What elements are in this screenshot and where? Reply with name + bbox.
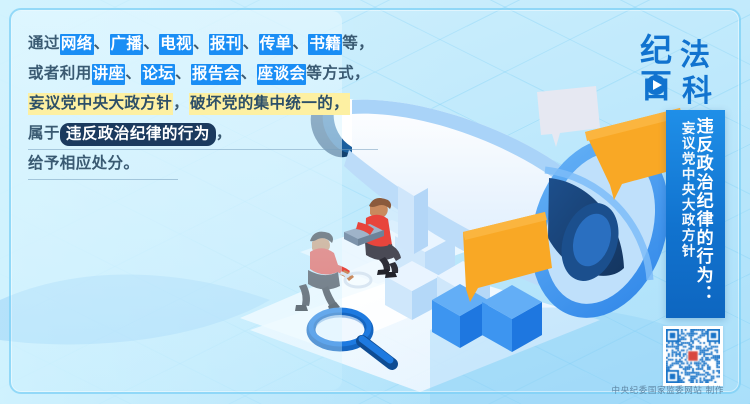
text-segment-plain: ， xyxy=(173,95,189,112)
text-segment-hl-yellow: 破坏党的集中统一的， xyxy=(189,93,350,115)
text-segment-hl-blue: 座谈会 xyxy=(257,64,307,85)
text-segment-plain: 、 xyxy=(241,65,257,82)
text-segment-plain: 属于 xyxy=(28,125,60,142)
text-line-1: 通过网络、广播、电视、报刊、传单、书籍等， xyxy=(28,36,378,52)
logo-char-ke: 科 xyxy=(682,74,712,105)
text-segment-plain: 给予相应处分。 xyxy=(28,155,139,172)
text-segment-hl-blue: 网络 xyxy=(60,34,94,55)
text-segment-plain: 、 xyxy=(175,65,191,82)
text-segment-plain: 等， xyxy=(342,35,374,52)
text-segment-hl-blue: 报刊 xyxy=(209,34,243,55)
text-segment-plain: ， xyxy=(216,125,232,142)
logo-char-ji: 纪 xyxy=(640,31,672,69)
text-segment-hl-blue: 电视 xyxy=(159,34,193,55)
text-line-3: 妄议党中央大政方针，破坏党的集中统一的， xyxy=(28,96,378,112)
text-segment-hl-blue: 讲座 xyxy=(92,64,126,85)
text-segment-hl-blue: 论坛 xyxy=(141,64,175,85)
body-text-block: 通过网络、广播、电视、报刊、传单、书籍等，或者利用讲座、论坛、报告会、座谈会等方… xyxy=(28,36,378,186)
text-segment-hl-blue: 书籍 xyxy=(308,34,342,55)
text-segment-hl-blue: 传单 xyxy=(259,34,293,55)
text-line-4: 属于违反政治纪律的行为， xyxy=(28,126,378,142)
text-line-5: 给予相应处分。 xyxy=(28,156,378,172)
text-segment-hl-pill: 违反政治纪律的行为 xyxy=(60,123,216,146)
text-segment-plain: 、 xyxy=(143,35,159,52)
qr-code[interactable] xyxy=(663,326,723,386)
text-segment-plain: 等方式， xyxy=(306,65,370,82)
text-segment-hl-blue: 广播 xyxy=(110,34,144,55)
logo-char-fa: 法 xyxy=(680,38,710,73)
right-vertical-banner: 违反政治纪律的行为： 妄议党中央大政方针 xyxy=(666,110,725,318)
text-segment-plain: 、 xyxy=(94,35,110,52)
text-segment-plain: 通过 xyxy=(28,35,60,52)
text-line-2: 或者利用讲座、论坛、报告会、座谈会等方式， xyxy=(28,66,378,82)
banner-subline: 妄议党中央大政方针 xyxy=(679,110,693,318)
text-segment-plain: 、 xyxy=(193,35,209,52)
text-segment-plain: 、 xyxy=(243,35,259,52)
poster-canvas: 通过网络、广播、电视、报刊、传单、书籍等，或者利用讲座、论坛、报告会、座谈会等方… xyxy=(0,0,750,404)
text-segment-plain: 或者利用 xyxy=(28,65,92,82)
jifa-baike-logo: 纪 法 百 科 xyxy=(638,27,726,105)
text-segment-plain: 、 xyxy=(293,35,309,52)
qr-code-canvas xyxy=(666,329,720,383)
banner-headline: 违反政治纪律的行为： xyxy=(694,110,712,318)
credit-line: 中央纪委国家监委网站 制作 xyxy=(611,384,724,396)
text-segment-hl-blue: 报告会 xyxy=(191,64,241,85)
text-segment-hl-yellow: 妄议党中央大政方针 xyxy=(28,93,173,115)
text-segment-plain: 、 xyxy=(125,65,141,82)
